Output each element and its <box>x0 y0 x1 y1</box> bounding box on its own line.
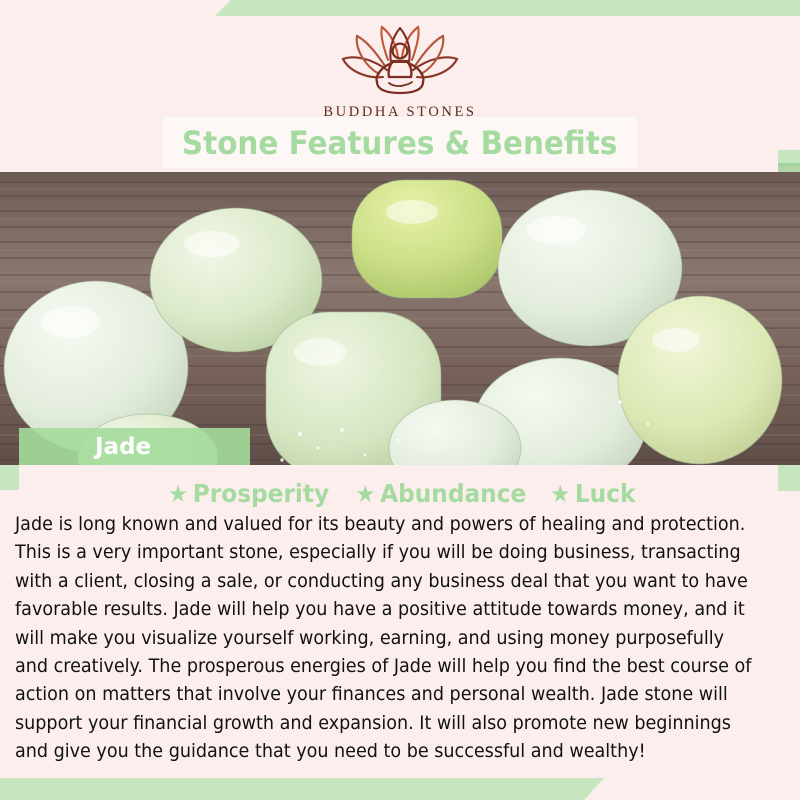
jade-stones-image <box>0 172 800 465</box>
keyword-label: Prosperity <box>192 479 328 508</box>
star-icon: ★ <box>168 480 188 508</box>
stone-photo <box>0 172 800 465</box>
keyword-prosperity: ★Prosperity <box>168 479 329 508</box>
keyword-luck: ★Luck <box>550 479 635 508</box>
brand-logo: BUDDHA STONES <box>0 22 800 121</box>
lotus-meditation-icon <box>325 22 475 100</box>
stone-info-card: BUDDHA STONES Stone Features & Benefits <box>0 0 800 800</box>
star-icon: ★ <box>355 480 375 508</box>
keyword-label: Abundance <box>380 479 526 508</box>
top-green-band <box>215 0 800 16</box>
description-text: Jade is long known and valued for its be… <box>15 511 752 767</box>
header-banner: Stone Features & Benefits <box>163 117 637 168</box>
keyword-label: Luck <box>574 479 635 508</box>
keyword-row: ★Prosperity★Abundance★Luck <box>0 479 800 508</box>
star-icon: ★ <box>550 480 570 508</box>
brand-wordmark: BUDDHA STONES <box>0 104 800 121</box>
stone-name: Jade <box>95 434 151 460</box>
stone-name-badge: Jade <box>19 428 250 465</box>
keyword-abundance: ★Abundance <box>355 479 526 508</box>
page-title: Stone Features & Benefits <box>182 124 617 162</box>
bottom-green-band <box>0 778 604 800</box>
